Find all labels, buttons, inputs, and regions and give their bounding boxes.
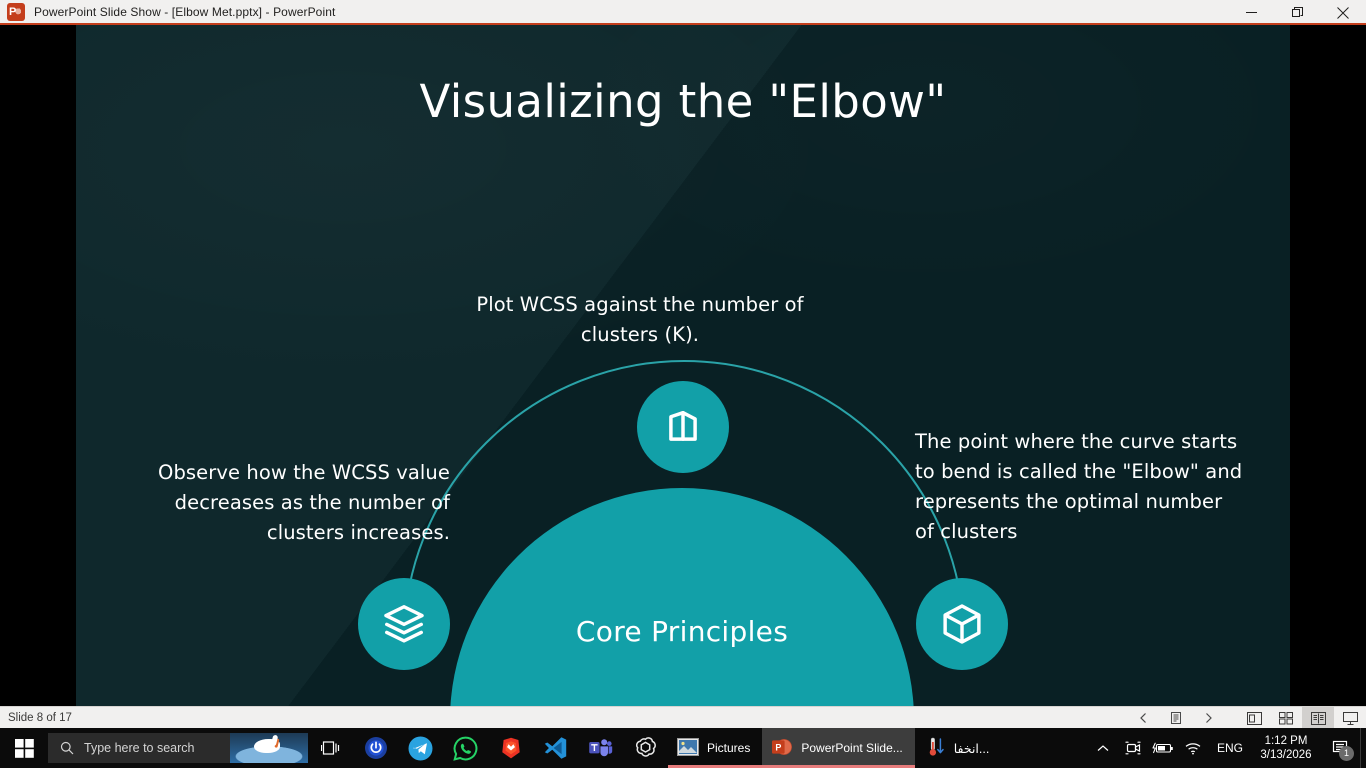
node-top[interactable] xyxy=(637,381,729,473)
language-indicator[interactable]: ENG xyxy=(1208,741,1252,755)
notification-badge: 1 xyxy=(1339,746,1354,761)
pictures-icon xyxy=(677,738,699,759)
window-controls xyxy=(1228,0,1366,25)
close-button[interactable] xyxy=(1320,0,1366,25)
clock[interactable]: 1:12 PM 3/13/2026 xyxy=(1252,734,1320,762)
taskbar: Type here to search xyxy=(0,728,1366,768)
status-bar-controls xyxy=(1128,707,1366,729)
chevron-up-icon[interactable] xyxy=(1088,728,1118,768)
layers-icon xyxy=(381,601,427,647)
clock-date: 3/13/2026 xyxy=(1260,748,1312,762)
clock-time: 1:12 PM xyxy=(1260,734,1312,748)
notes-button[interactable] xyxy=(1160,707,1192,729)
search-placeholder: Type here to search xyxy=(84,741,194,755)
minimize-button[interactable] xyxy=(1228,0,1274,25)
restore-button[interactable] xyxy=(1274,0,1320,25)
weather-widget[interactable]: انخفا... xyxy=(915,728,1000,768)
battery-charging-icon[interactable] xyxy=(1148,728,1178,768)
slide-show-view-button[interactable] xyxy=(1334,707,1366,729)
next-slide-button[interactable] xyxy=(1192,707,1224,729)
vscode-icon[interactable] xyxy=(533,728,578,768)
page-title: Visualizing the "Elbow" xyxy=(76,75,1290,128)
node-right[interactable] xyxy=(916,578,1008,670)
show-desktop-button[interactable] xyxy=(1360,728,1366,768)
powerpoint-icon: P xyxy=(771,737,793,760)
telegram-icon[interactable] xyxy=(398,728,443,768)
search-wallpaper-thumbnail xyxy=(230,733,308,763)
whatsapp-icon[interactable] xyxy=(443,728,488,768)
windows-start-icon[interactable] xyxy=(0,728,48,768)
open-book-icon xyxy=(661,405,705,449)
teams-icon[interactable] xyxy=(578,728,623,768)
callout-text-left: Observe how the WCSS value decreases as … xyxy=(140,458,450,548)
taskbar-item-powerpoint[interactable]: P PowerPoint Slide... xyxy=(762,728,914,768)
search-icon xyxy=(60,741,74,755)
meet-now-icon[interactable] xyxy=(1118,728,1148,768)
task-view-icon[interactable] xyxy=(308,728,353,768)
previous-slide-button[interactable] xyxy=(1128,707,1160,729)
taskbar-item-pictures-label: Pictures xyxy=(707,741,750,755)
callout-text-top: Plot WCSS against the number of clusters… xyxy=(455,290,825,350)
cube-icon xyxy=(939,601,985,647)
slide-sorter-view-button[interactable] xyxy=(1270,707,1302,729)
notification-icon[interactable]: 1 xyxy=(1320,728,1360,768)
slide-counter: Slide 8 of 17 xyxy=(8,712,72,724)
brave-icon[interactable] xyxy=(488,728,533,768)
powerpoint-icon xyxy=(7,3,25,21)
wifi-icon[interactable] xyxy=(1178,728,1208,768)
status-bar: Slide 8 of 17 xyxy=(0,706,1366,728)
thermometer-icon xyxy=(925,736,947,761)
reading-view-button[interactable] xyxy=(1302,707,1334,729)
slide-canvas[interactable]: Visualizing the "Elbow" Core Principles xyxy=(76,25,1290,706)
window-title-bar: PowerPoint Slide Show - [Elbow Met.pptx]… xyxy=(0,0,1366,25)
chatgpt-icon[interactable] xyxy=(623,728,668,768)
callout-text-right: The point where the curve starts to bend… xyxy=(915,427,1245,547)
svg-text:P: P xyxy=(776,742,782,752)
node-left[interactable] xyxy=(358,578,450,670)
taskbar-item-powerpoint-label: PowerPoint Slide... xyxy=(801,741,902,755)
normal-view-button[interactable] xyxy=(1238,707,1270,729)
slide-show-stage[interactable]: Visualizing the "Elbow" Core Principles xyxy=(0,25,1366,706)
center-label: Core Principles xyxy=(450,488,914,648)
search-input[interactable]: Type here to search xyxy=(48,733,308,763)
weather-label: انخفا... xyxy=(954,741,990,756)
power-app-icon[interactable] xyxy=(353,728,398,768)
taskbar-item-pictures[interactable]: Pictures xyxy=(668,728,762,768)
system-tray: ENG 1:12 PM 3/13/2026 1 xyxy=(1088,728,1366,768)
window-title: PowerPoint Slide Show - [Elbow Met.pptx]… xyxy=(34,5,335,19)
status-bar-divider xyxy=(1224,707,1238,729)
